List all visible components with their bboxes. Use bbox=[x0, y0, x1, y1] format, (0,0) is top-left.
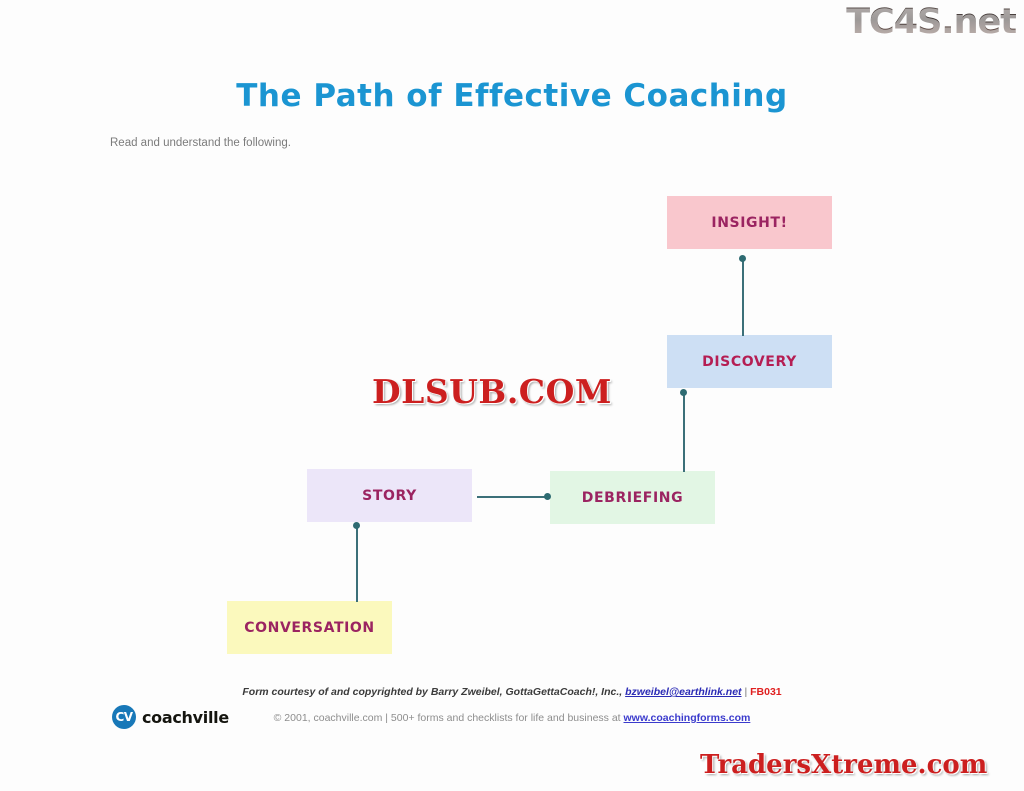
footer-credit-separator: | bbox=[742, 686, 751, 698]
tradersxtreme-watermark: TradersXtreme.com bbox=[700, 750, 987, 780]
connector-discovery-to-insight bbox=[742, 258, 744, 336]
connector-conversation-to-story bbox=[356, 525, 358, 602]
connector-story-to-debriefing bbox=[477, 496, 549, 498]
coachville-logo[interactable]: CV coachville bbox=[112, 705, 229, 729]
page-subtitle: Read and understand the following. bbox=[110, 137, 291, 149]
footer-coachingforms-link[interactable]: www.coachingforms.com bbox=[624, 712, 751, 724]
footer-email-link[interactable]: bzweibel@earthlink.net bbox=[625, 686, 741, 698]
flow-box-discovery: DISCOVERY bbox=[667, 335, 832, 388]
form-page: TC4S.net The Path of Effective Coaching … bbox=[0, 0, 1024, 791]
coachville-cv-badge-icon: CV bbox=[112, 705, 136, 729]
connector-endpoint-dot-discovery bbox=[680, 389, 687, 396]
footer-form-code: FB031 bbox=[750, 686, 782, 698]
connector-debriefing-to-discovery bbox=[683, 392, 685, 472]
coachville-wordmark: coachville bbox=[142, 708, 229, 727]
connector-endpoint-dot-insight bbox=[739, 255, 746, 262]
tc4s-watermark: TC4S.net bbox=[846, 2, 1016, 42]
connector-endpoint-dot-story bbox=[353, 522, 360, 529]
page-title: The Path of Effective Coaching bbox=[0, 78, 1024, 114]
flow-box-debriefing: DEBRIEFING bbox=[550, 471, 715, 524]
footer-credit-text: Form courtesy of and copyrighted by Barr… bbox=[242, 686, 625, 698]
footer-copyright-text: © 2001, coachville.com | 500+ forms and … bbox=[274, 712, 624, 724]
flow-box-conversation: CONVERSATION bbox=[227, 601, 392, 654]
connector-endpoint-dot-debriefing bbox=[544, 493, 551, 500]
flow-box-insight: INSIGHT! bbox=[667, 196, 832, 249]
dlsub-watermark: DLSUB.COM bbox=[372, 372, 612, 411]
footer-credit-line: Form courtesy of and copyrighted by Barr… bbox=[0, 686, 1024, 698]
flow-box-story: STORY bbox=[307, 469, 472, 522]
